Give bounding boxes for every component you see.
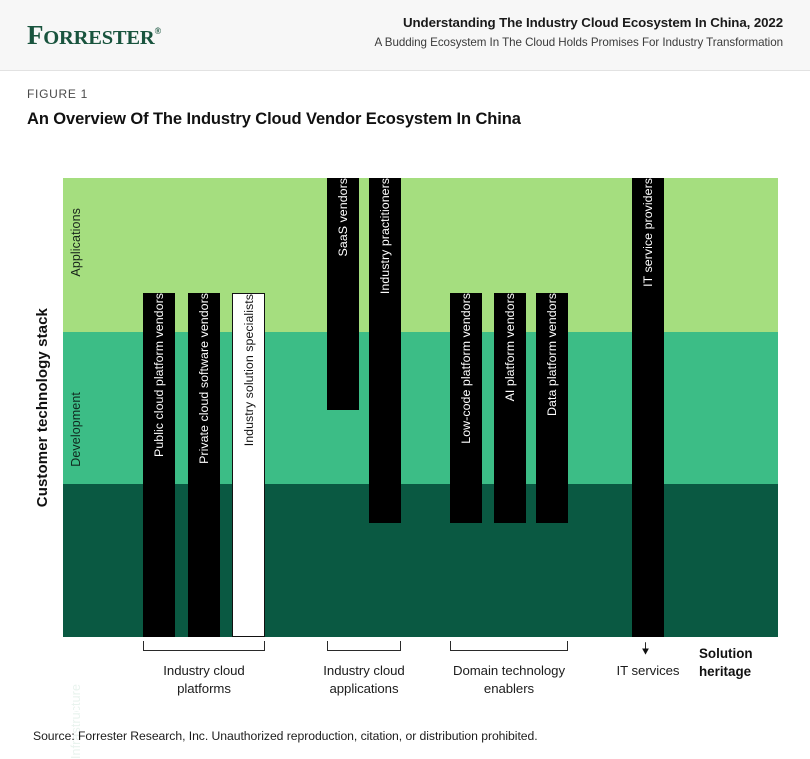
group-label-line1-industry-cloud-platforms: Industry cloud [124,662,284,680]
x-axis-title-line1: Solution [699,645,799,663]
bar-saas-vendors[interactable]: SaaS vendors [327,178,359,410]
bar-private-cloud-software-vendors[interactable]: Private cloud software vendors [188,293,220,637]
y-axis-title-text: Customer technology stack [34,308,51,507]
group-label-line2-domain-technology-enablers: enablers [429,680,589,698]
bar-industry-solution-specialists[interactable]: Industry solution specialists [232,293,265,637]
group-label-line1-domain-technology-enablers: Domain technology [429,662,589,680]
x-axis-title: Solution heritage [699,645,799,681]
bar-low-code-platform-vendors[interactable]: Low-code platform vendors [450,293,482,523]
group-label-line1-industry-cloud-applications: Industry cloud [284,662,444,680]
bar-label-industry-practitioners: Industry practitioners [369,178,401,294]
plot-area: Applications Development Infrastructure … [63,178,778,637]
bar-label-public-cloud-platform-vendors: Public cloud platform vendors [143,293,175,457]
chart-canvas: Customer technology stack Applications D… [0,0,810,746]
source-note: Source: Forrester Research, Inc. Unautho… [33,729,538,743]
bar-label-it-service-providers: IT service providers [632,178,664,287]
down-arrow-icon [641,637,650,661]
bar-it-service-providers[interactable]: IT service providers [632,178,664,637]
group-label-line2-industry-cloud-platforms: platforms [124,680,284,698]
bar-public-cloud-platform-vendors[interactable]: Public cloud platform vendors [143,293,175,637]
bar-label-ai-platform-vendors: AI platform vendors [494,293,526,401]
group-label-line2-industry-cloud-applications: applications [284,680,444,698]
footer-divider [0,710,810,711]
bar-label-low-code-platform-vendors: Low-code platform vendors [450,293,482,444]
bar-label-data-platform-vendors: Data platform vendors [536,293,568,416]
bar-label-private-cloud-software-vendors: Private cloud software vendors [188,293,220,464]
bracket-industry-cloud-applications [327,641,401,651]
bracket-domain-technology-enablers [450,641,568,651]
group-label-domain-technology-enablers: Domain technology enablers [429,662,589,698]
y-axis-title: Customer technology stack [30,178,54,637]
group-label-industry-cloud-platforms: Industry cloud platforms [124,662,284,698]
band-label-infrastructure: Infrastructure [69,684,83,759]
group-label-industry-cloud-applications: Industry cloud applications [284,662,444,698]
bar-label-industry-solution-specialists: Industry solution specialists [233,294,264,446]
bar-label-saas-vendors: SaaS vendors [327,178,359,256]
bar-ai-platform-vendors[interactable]: AI platform vendors [494,293,526,523]
bar-industry-practitioners[interactable]: Industry practitioners [369,178,401,523]
bar-data-platform-vendors[interactable]: Data platform vendors [536,293,568,523]
x-axis-title-line2: heritage [699,663,799,681]
bracket-industry-cloud-platforms [143,641,265,651]
band-label-applications: Applications [69,208,83,277]
band-label-development: Development [69,392,83,467]
